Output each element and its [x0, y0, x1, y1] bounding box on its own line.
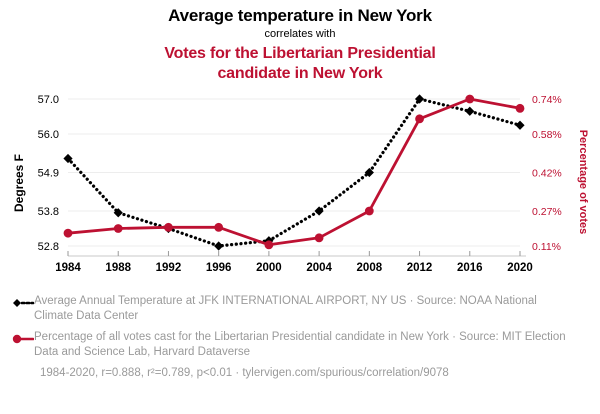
y-axis-right-tick: 0.27%: [532, 206, 562, 218]
page-subtitle: Votes for the Libertarian Presidential c…: [0, 44, 600, 84]
chart-area: Degrees F Percentage of votes 52.80.11%5…: [0, 88, 600, 288]
legend-item-temperature: Average Annual Temperature at JFK INTERN…: [6, 294, 600, 323]
x-axis-tick-label: 2000: [256, 262, 282, 274]
series-marker: [214, 241, 223, 250]
x-axis-tick-label: 2008: [357, 262, 383, 274]
chart-legend: Average Annual Temperature at JFK INTERN…: [6, 294, 600, 380]
page-subtitle-line2: candidate in New York: [217, 65, 382, 82]
series-marker: [214, 223, 223, 232]
y-axis-right-tick: 0.11%: [532, 241, 561, 253]
x-axis-tick-label: 1984: [55, 262, 81, 274]
series-marker: [365, 207, 374, 216]
legend-item-votes: Percentage of all votes cast for the Lib…: [6, 330, 600, 359]
series-marker: [315, 206, 324, 215]
x-axis-tick-label: 2016: [457, 262, 483, 274]
y-axis-left-tick: 52.8: [38, 241, 59, 253]
x-axis-tick-label: 2020: [507, 262, 533, 274]
page-subtitle-line1: Votes for the Libertarian Presidential: [164, 45, 435, 62]
footer-stats: 1984-2020, r=0.888, r²=0.789, p<0.01 · t…: [40, 366, 600, 380]
y-axis-left-tick: 54.9: [38, 168, 59, 180]
series-marker: [465, 107, 474, 116]
black-diamond-dotted-icon: [6, 296, 34, 310]
y-axis-left-tick: 56.0: [38, 129, 59, 141]
x-axis-tick-label: 1988: [105, 262, 131, 274]
legend-votes-line1: Percentage of all votes cast for the Lib…: [34, 331, 423, 343]
title-connector: correlates with: [0, 27, 600, 42]
x-axis-tick-label: 2004: [306, 262, 332, 274]
legend-label-votes: Percentage of all votes cast for the Lib…: [34, 330, 574, 359]
series-marker: [465, 95, 474, 104]
series-marker: [164, 223, 173, 232]
series-marker: [64, 229, 73, 238]
legend-label-temperature: Average Annual Temperature at JFK INTERN…: [34, 294, 574, 323]
series-marker: [114, 224, 123, 233]
y-axis-left-title: Degrees F: [12, 138, 26, 228]
x-axis-tick-label: 1992: [156, 262, 182, 274]
x-axis-tick-label: 2012: [407, 262, 433, 274]
legend-temperature-line1: Average Annual Temperature at JFK INTERN…: [34, 295, 456, 307]
series-marker: [264, 240, 273, 249]
red-circle-solid-icon: [6, 332, 34, 346]
y-axis-right-tick: 0.74%: [532, 94, 562, 106]
page-title: Average temperature in New York: [0, 6, 600, 26]
line-chart-svg: 52.80.11%53.80.27%54.90.42%56.00.58%57.0…: [0, 88, 600, 288]
y-axis-right-title: Percentage of votes: [577, 128, 589, 236]
series-marker: [515, 121, 524, 130]
y-axis-right-tick: 0.58%: [532, 129, 562, 141]
y-axis-left-tick: 57.0: [38, 94, 59, 106]
y-axis-left-tick: 53.8: [38, 206, 59, 218]
series-line: [68, 99, 520, 245]
series-marker: [516, 104, 525, 113]
y-axis-right-tick: 0.42%: [532, 168, 562, 180]
x-axis-tick-label: 1996: [206, 262, 232, 274]
series-marker: [315, 233, 324, 242]
series-marker: [415, 114, 424, 123]
chart-header: Average temperature in New York correlat…: [0, 0, 600, 84]
